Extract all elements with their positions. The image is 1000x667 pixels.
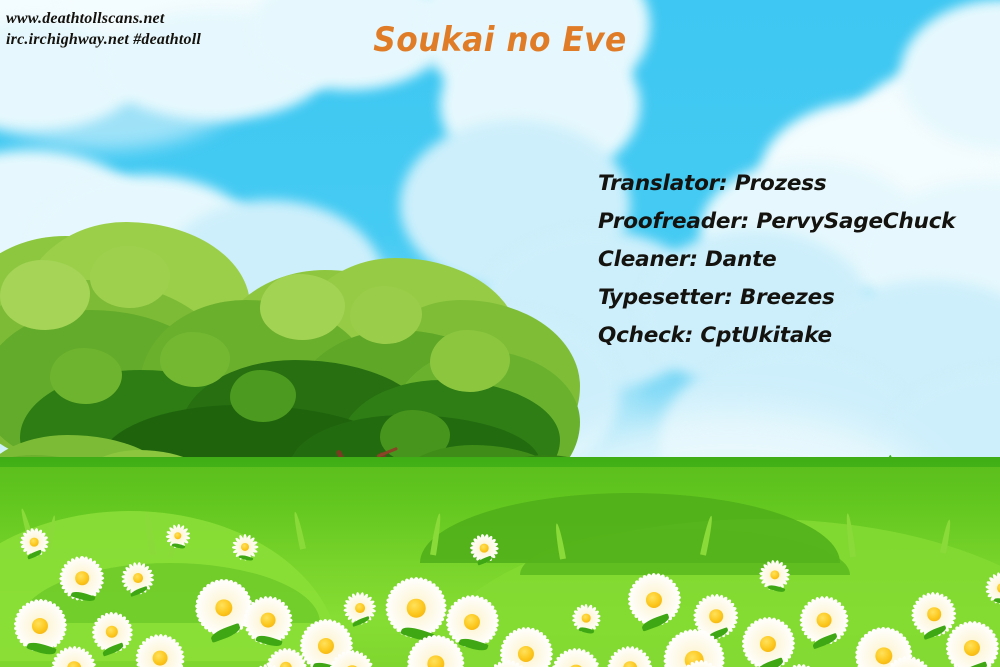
credit-line-cleaner: Cleaner: Dante: [598, 241, 998, 279]
credit-line-qcheck: Qcheck: CptUkitake: [598, 317, 998, 355]
daisy-center: [67, 661, 81, 667]
daisy-flower: [232, 534, 258, 560]
daisy-flower: [742, 618, 794, 667]
daisy-flower: [330, 650, 374, 667]
daisy-flower: [628, 574, 680, 626]
daisy-flower: [760, 560, 790, 590]
daisy-flower: [608, 646, 652, 667]
daisy-flower: [122, 562, 154, 594]
daisy-center: [582, 614, 591, 623]
daisy-flower: [52, 646, 96, 667]
daisy-flower: [884, 656, 932, 667]
daisy-center: [817, 613, 832, 628]
daisy-flower: [386, 578, 446, 638]
daisy-flower: [14, 600, 66, 652]
daisy-center: [480, 544, 489, 553]
daisy-center: [623, 661, 637, 667]
daisy-center: [30, 538, 39, 547]
daisy-flower: [946, 622, 998, 667]
credit-line-typesetter: Typesetter: Breezes: [598, 279, 998, 317]
daisy-flower: [470, 534, 498, 562]
daisy-flower: [800, 596, 848, 644]
credit-line-proofreader: Proofreader: PervySageChuck: [598, 203, 998, 241]
daisy-center: [241, 543, 249, 551]
daisy-flower: [408, 636, 464, 667]
daisy-flower: [244, 596, 292, 644]
credits-block: Translator: Prozess Proofreader: PervySa…: [598, 165, 998, 355]
manga-credits-page: www.deathtollscans.net irc.irchighway.ne…: [0, 0, 1000, 667]
daisy-flower: [572, 604, 600, 632]
daisy-flower: [166, 524, 190, 548]
daisy-flower: [20, 528, 48, 556]
daisy-center: [261, 613, 276, 628]
daisy-flower: [986, 572, 1000, 604]
daisy-center: [709, 609, 723, 623]
daisy-center: [355, 603, 365, 613]
daisy-flower: [486, 660, 530, 667]
daisy-center: [133, 573, 143, 583]
daisy-center: [153, 651, 168, 666]
daisy-flower: [552, 648, 600, 667]
daisy-flower: [680, 660, 720, 667]
daisy-center: [407, 599, 426, 618]
daisy-center: [927, 607, 941, 621]
daisy-center: [75, 571, 89, 585]
page-title: Soukai no Eve: [40, 20, 960, 60]
daisy-flower: [344, 592, 376, 624]
daisy-flower: [92, 612, 132, 652]
daisy-flower: [60, 556, 104, 600]
credit-line-translator: Translator: Prozess: [598, 165, 998, 203]
daisy-flower: [136, 634, 184, 667]
daisy-center: [427, 655, 444, 667]
